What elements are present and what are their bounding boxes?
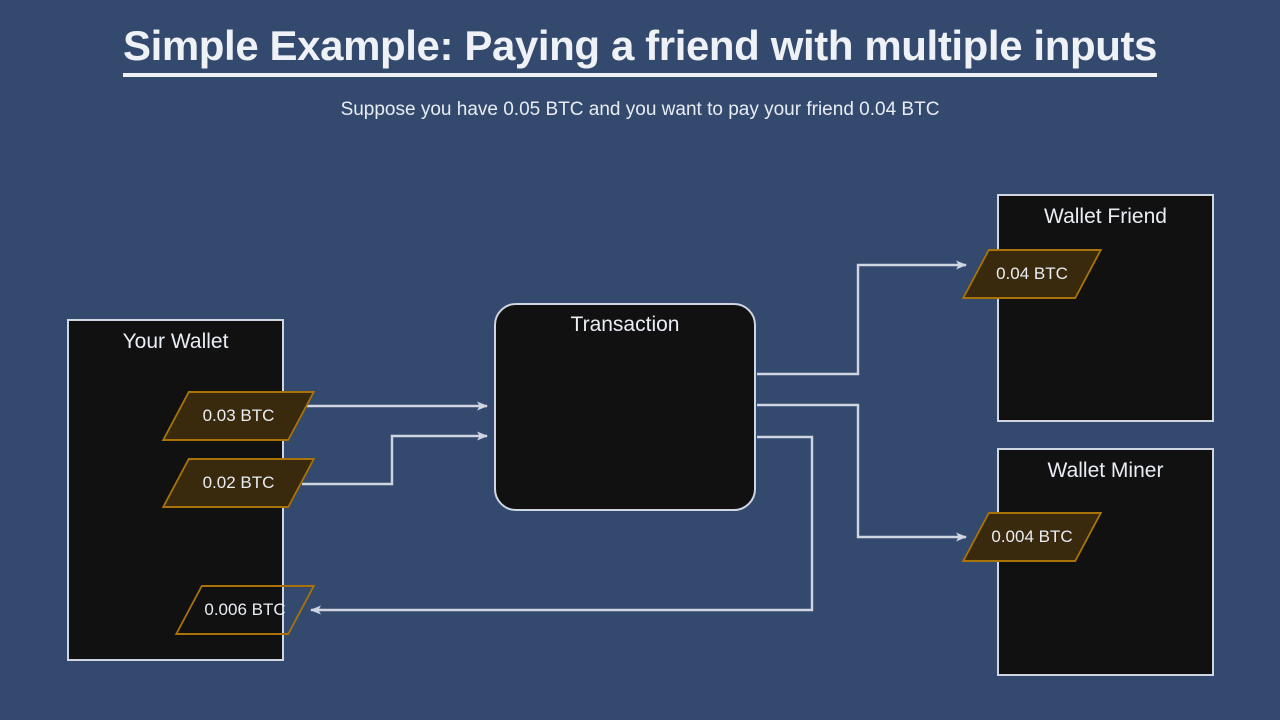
transaction-label: Transaction xyxy=(496,313,754,337)
wallet-miner[interactable]: Wallet Miner xyxy=(997,448,1214,676)
utxo-input-0-03-btc[interactable]: 0.03 BTC xyxy=(162,391,316,441)
utxo-input-0-02-btc[interactable]: 0.02 BTC xyxy=(162,458,316,508)
transaction-node[interactable]: Transaction xyxy=(494,303,756,511)
edge-input-002 xyxy=(302,436,487,484)
wallet-title-your-wallet: Your Wallet xyxy=(69,330,282,354)
utxo-change-0-006-btc[interactable]: 0.006 BTC xyxy=(175,585,316,635)
utxo-output-0-04-btc[interactable]: 0.04 BTC xyxy=(962,249,1103,299)
edge-output-fee xyxy=(757,405,966,537)
wallet-title-friend: Wallet Friend xyxy=(999,205,1212,229)
page-title-text: Simple Example: Paying a friend with mul… xyxy=(123,22,1157,77)
page-subtitle: Suppose you have 0.05 BTC and you want t… xyxy=(0,99,1280,121)
diagram-canvas: Simple Example: Paying a friend with mul… xyxy=(0,0,1280,720)
utxo-label: 0.006 BTC xyxy=(190,587,300,633)
edge-output-004 xyxy=(757,265,966,374)
page-title: Simple Example: Paying a friend with mul… xyxy=(0,22,1280,70)
utxo-label: 0.02 BTC xyxy=(177,460,300,506)
utxo-fee-0-004-btc[interactable]: 0.004 BTC xyxy=(962,512,1103,562)
wallet-title-miner: Wallet Miner xyxy=(999,459,1212,483)
wallet-friend[interactable]: Wallet Friend xyxy=(997,194,1214,422)
utxo-label: 0.04 BTC xyxy=(977,251,1087,297)
utxo-label: 0.03 BTC xyxy=(177,393,300,439)
utxo-label: 0.004 BTC xyxy=(977,514,1087,560)
